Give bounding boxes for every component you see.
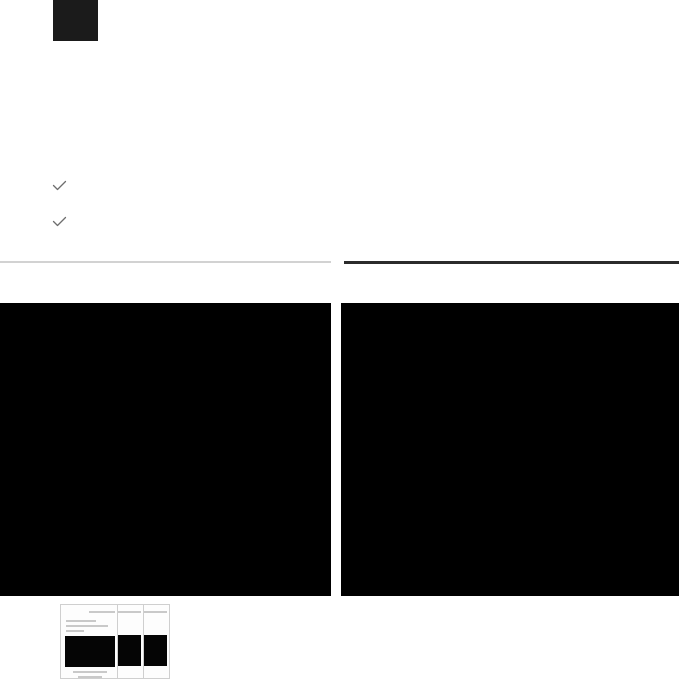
list-item <box>51 206 87 236</box>
list-item <box>51 170 87 200</box>
report-page-1 <box>60 604 118 679</box>
ultrasound-image-before <box>0 303 331 596</box>
benefit-list <box>51 170 87 242</box>
section-number-badge <box>53 0 98 41</box>
ultrasound-image-after <box>341 303 679 596</box>
clinical-report-thumbnail <box>60 604 170 679</box>
check-icon <box>51 177 68 194</box>
slide-root <box>0 0 679 679</box>
after-divider-rule <box>344 261 679 264</box>
before-divider-rule <box>0 261 331 263</box>
check-icon <box>51 213 68 230</box>
